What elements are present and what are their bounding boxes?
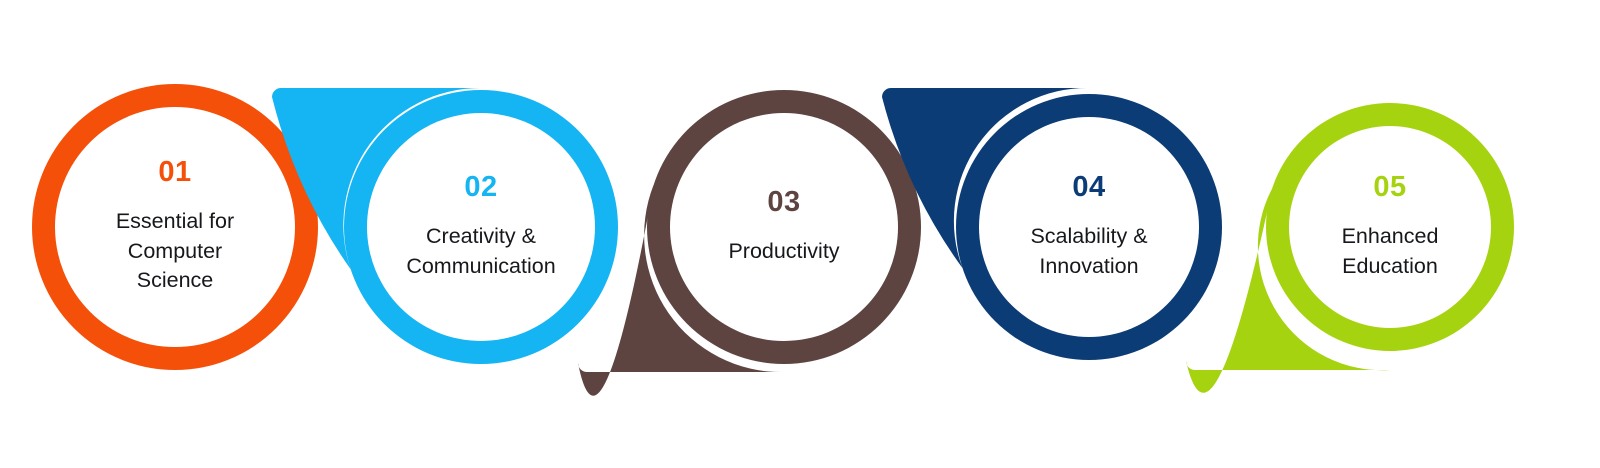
step-label-03: Productivity (714, 237, 853, 267)
step-number-03: 03 (767, 188, 800, 217)
step-label-04: Scalability & Innovation (1016, 222, 1161, 281)
step-04[interactable]: 04Scalability & Innovation (979, 117, 1199, 337)
step-number-04: 04 (1072, 173, 1105, 202)
step-label-01: Essential for Computer Science (102, 207, 248, 296)
step-02[interactable]: 02Creativity & Communication (367, 113, 595, 341)
step-number-05: 05 (1373, 173, 1406, 202)
step-number-01: 01 (158, 158, 191, 187)
step-01[interactable]: 01Essential for Computer Science (55, 107, 295, 347)
step-label-02: Creativity & Communication (392, 222, 569, 281)
step-05[interactable]: 05Enhanced Education (1289, 126, 1491, 328)
step-label-05: Enhanced Education (1328, 222, 1453, 281)
step-number-02: 02 (464, 173, 497, 202)
step-03[interactable]: 03Productivity (670, 113, 898, 341)
process-infographic: 01Essential for Computer Science02Creati… (0, 0, 1600, 468)
